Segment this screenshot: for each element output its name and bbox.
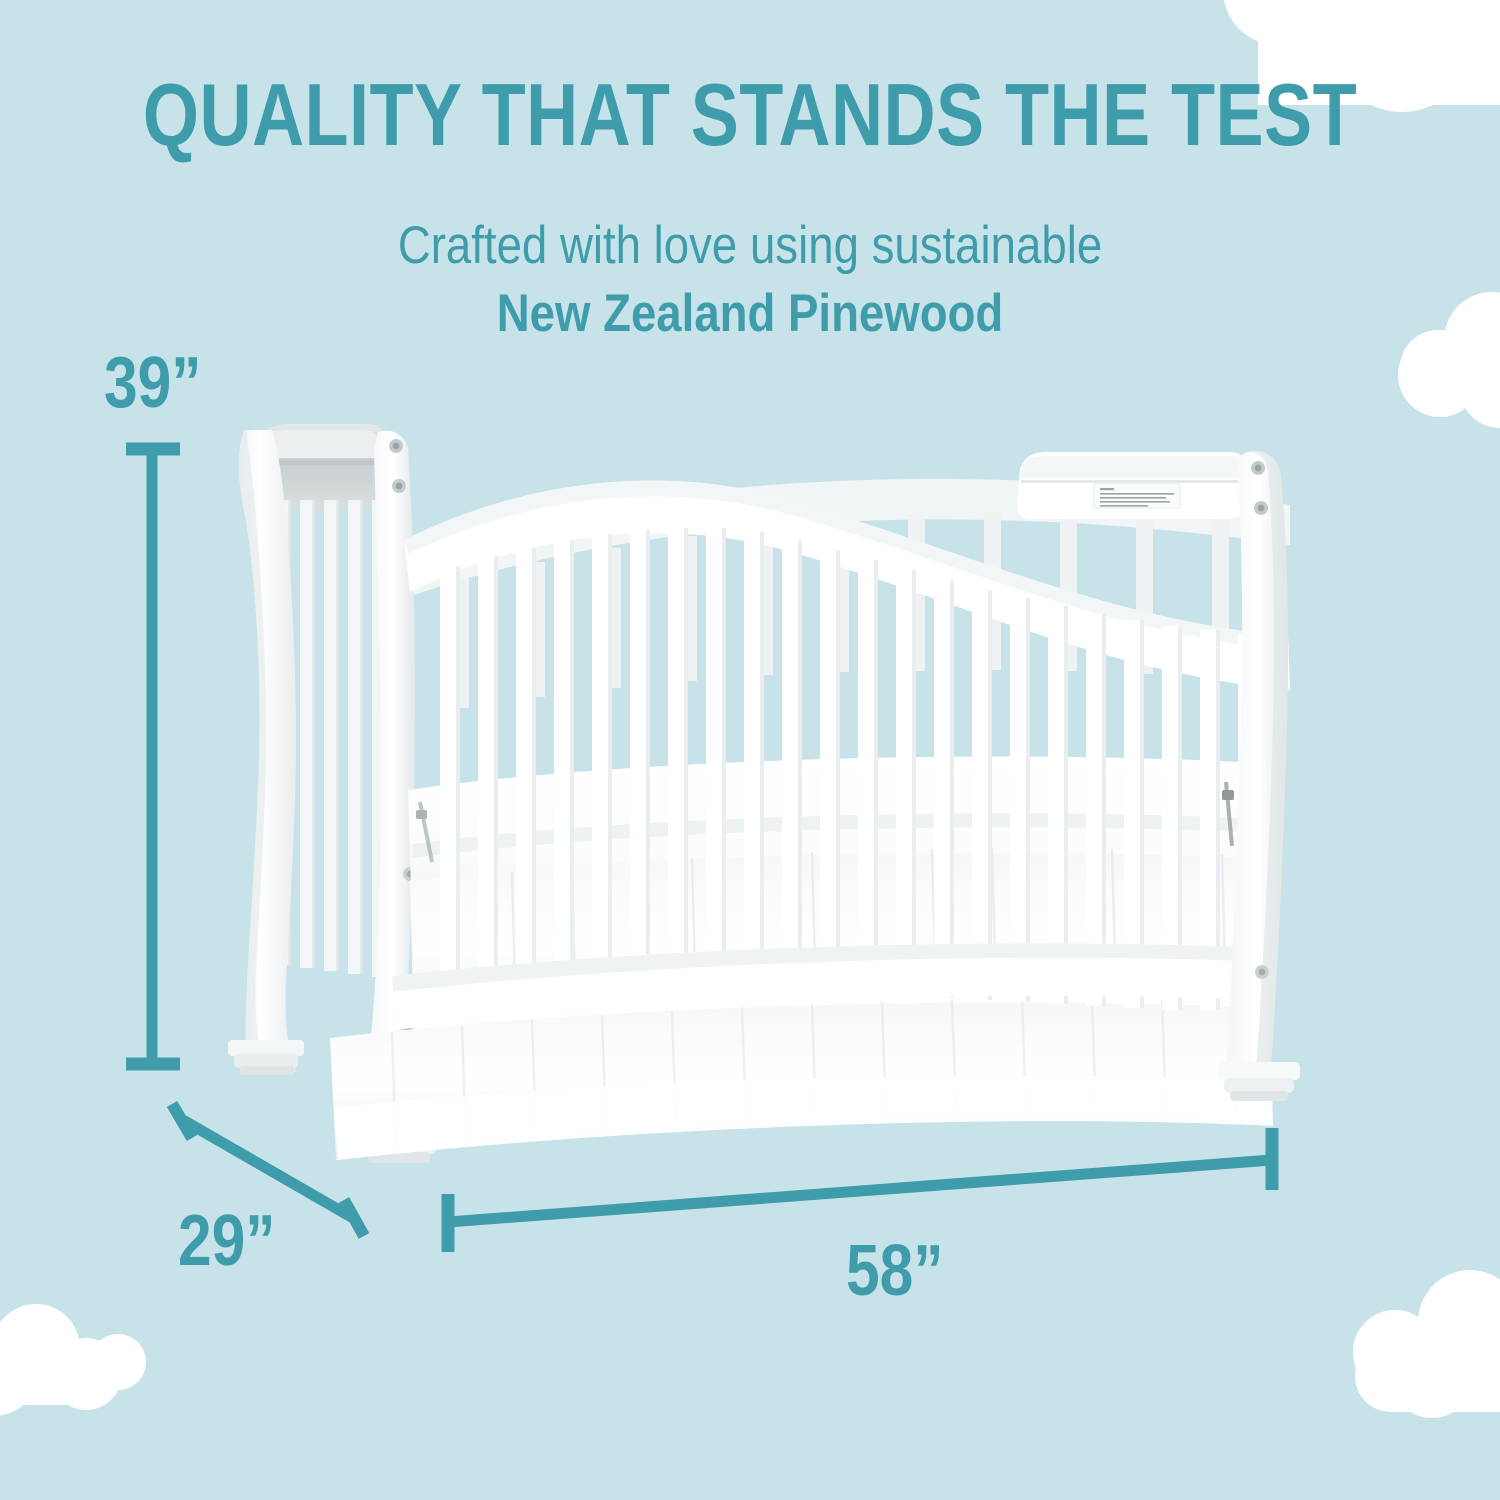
subtitle-line-1: Crafted with love using sustainable bbox=[105, 216, 1395, 275]
dimension-label-width: 58” bbox=[846, 1230, 944, 1312]
infographic-canvas: QUALITY THAT STANDS THE TEST Crafted wit… bbox=[0, 0, 1500, 1500]
dimension-label-depth: 29” bbox=[178, 1200, 276, 1282]
page-title: QUALITY THAT STANDS THE TEST bbox=[135, 72, 1365, 158]
dimension-label-height: 39” bbox=[104, 342, 202, 424]
warning-label bbox=[1094, 484, 1180, 508]
crib-foot-right bbox=[1218, 1062, 1300, 1101]
subtitle-line-2: New Zealand Pinewood bbox=[105, 284, 1395, 343]
header-text-block: QUALITY THAT STANDS THE TEST Crafted wit… bbox=[0, 72, 1500, 343]
footboard-top-rail bbox=[1017, 452, 1249, 519]
crib-foot-left-rear bbox=[228, 1040, 304, 1075]
